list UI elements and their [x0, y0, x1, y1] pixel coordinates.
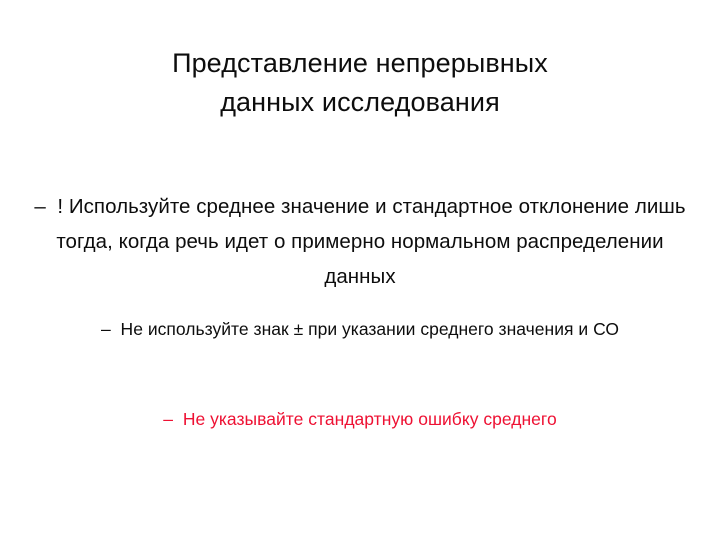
bullet-text-3: Не указывайте стандартную ошибку среднег… — [183, 409, 557, 429]
slide-title-line-1: Представление непрерывных — [60, 44, 660, 83]
bullet-dash-2: – — [101, 319, 111, 339]
bullet-text-1: Используйте среднее значение и стандартн… — [56, 195, 685, 289]
bullet-dash-1: – — [34, 195, 45, 218]
slide-title-line-2: данных исследования — [60, 83, 660, 122]
slide-canvas: Представление непрерывных данных исследо… — [0, 0, 720, 540]
bullet-dash-3: – — [163, 409, 173, 429]
slide-title: Представление непрерывных данных исследо… — [60, 44, 660, 123]
slide-body: – ! Используйте среднее значение и станд… — [0, 168, 720, 360]
bullet-text-2: Не используйте знак ± при указании средн… — [121, 319, 619, 339]
bullet-item-2: – Не используйте знак ± при указании сре… — [0, 315, 720, 343]
bullet-item-1: – ! Используйте среднее значение и станд… — [0, 189, 720, 295]
bullet-item-3-emphasis: – Не указывайте стандартную ошибку средн… — [0, 405, 720, 433]
